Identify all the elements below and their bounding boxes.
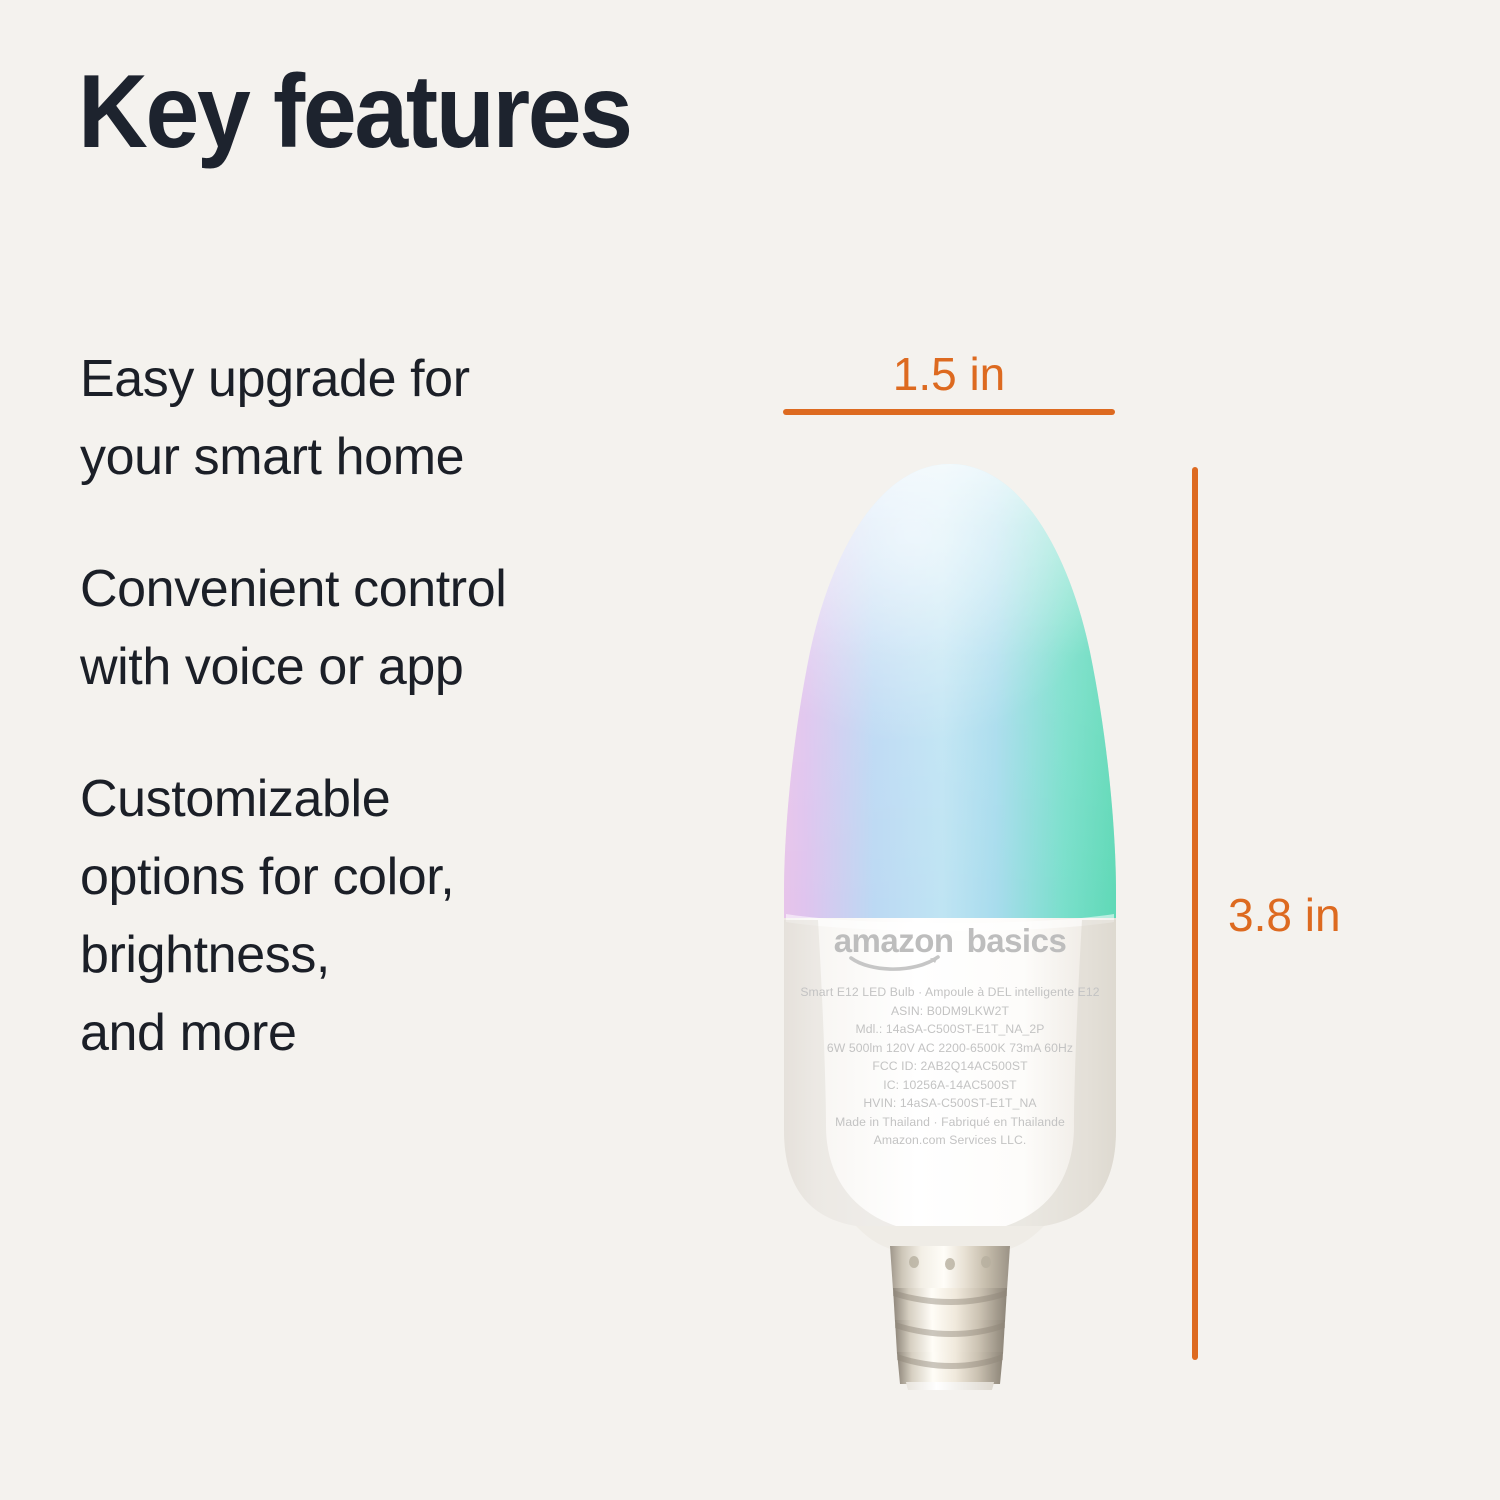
bulb-color-dome <box>742 440 1140 926</box>
feature-item-convenient-control: Convenient control with voice or app <box>80 550 680 706</box>
dimension-width-label: 1.5 in <box>783 347 1115 401</box>
feature-item-customizable-options: Customizable options for color, brightne… <box>80 760 680 1072</box>
infographic-canvas: Key features Easy upgrade for your smart… <box>0 0 1500 1500</box>
dimension-width-line <box>783 409 1115 415</box>
page-title: Key features <box>78 58 631 167</box>
bulb-illustration <box>700 440 1200 1390</box>
bulb-envelope <box>742 440 1140 1226</box>
product-image-smart-led-bulb: amazonbasics Smart E12 LED Bulb · Ampoul… <box>700 440 1200 1390</box>
feature-item-easy-upgrade: Easy upgrade for your smart home <box>80 340 680 496</box>
dimension-height-label: 3.8 in <box>1228 888 1341 942</box>
bulb-screw-base <box>890 1246 1010 1390</box>
amazon-smile-arrow-icon <box>848 952 944 974</box>
feature-list: Easy upgrade for your smart home Conveni… <box>80 340 680 1072</box>
